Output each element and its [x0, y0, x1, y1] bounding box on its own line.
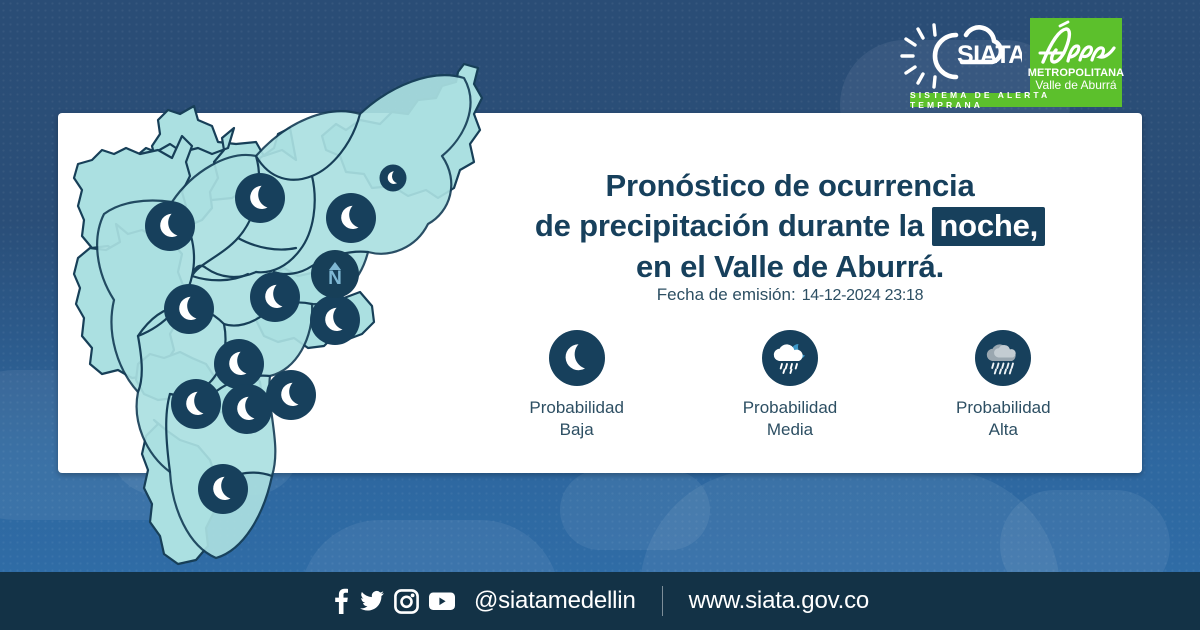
legend-label-alta: Probabilidad Alta — [913, 397, 1093, 442]
legend-alta-line2: Alta — [913, 419, 1093, 441]
issue-date-label: Fecha de emisión: — [657, 285, 796, 304]
legend-item-baja: Probabilidad Baja — [487, 330, 667, 442]
youtube-icon[interactable] — [428, 590, 456, 612]
twitter-icon[interactable] — [359, 588, 385, 614]
compass-label: N — [328, 271, 342, 286]
siata-tagline-banner: SISTEMA DE ALERTA TEMPRANA — [910, 93, 1122, 107]
legend-media-line2: Media — [700, 419, 880, 441]
area-metropolitana-logo: METROPOLITANA Valle de Aburrá — [1030, 18, 1122, 96]
svg-text:SIATA: SIATA — [957, 41, 1022, 69]
legend-baja-line2: Baja — [487, 419, 667, 441]
footer-divider — [662, 586, 663, 616]
social-handle[interactable]: @siatamedellin — [474, 587, 636, 615]
title-line-2-text: de precipitación durante la — [535, 208, 924, 243]
page-title: Pronóstico de ocurrencia de precipitació… — [470, 166, 1110, 287]
legend-item-alta: Probabilidad Alta — [913, 330, 1093, 442]
area-script-icon — [1030, 20, 1122, 70]
legend-media-line1: Probabilidad — [700, 397, 880, 419]
moon-icon — [549, 330, 605, 386]
legend-item-media: Probabilidad Media — [700, 330, 880, 442]
title-line-2: de precipitación durante la noche, — [470, 206, 1110, 246]
legend-alta-line1: Probabilidad — [913, 397, 1093, 419]
cloud-heavy-rain-icon — [975, 330, 1031, 386]
footer-bar: @siatamedellin www.siata.gov.co — [0, 572, 1200, 630]
logo-group: SIATA METROPOLITANA Valle de Aburrá — [894, 18, 1122, 96]
instagram-icon[interactable] — [394, 589, 419, 614]
legend-label-baja: Probabilidad Baja — [487, 397, 667, 442]
title-highlight-noche: noche, — [932, 207, 1045, 246]
issue-date: Fecha de emisión:14-12-2024 23:18 — [470, 285, 1110, 305]
website-url[interactable]: www.siata.gov.co — [689, 587, 869, 615]
legend-label-media: Probabilidad Media — [700, 397, 880, 442]
issue-date-value: 14-12-2024 23:18 — [802, 287, 924, 304]
social-links — [331, 588, 456, 614]
cloud-moon-rain-icon — [762, 330, 818, 386]
siata-logo: SIATA — [894, 18, 1022, 94]
legend-baja-line1: Probabilidad — [487, 397, 667, 419]
probability-legend: Probabilidad Baja Probabilidad — [470, 330, 1110, 442]
compass-north-icon: N — [311, 250, 359, 298]
facebook-icon[interactable] — [331, 588, 350, 614]
title-line-3: en el Valle de Aburrá. — [470, 247, 1110, 287]
title-line-1: Pronóstico de ocurrencia — [470, 166, 1110, 206]
